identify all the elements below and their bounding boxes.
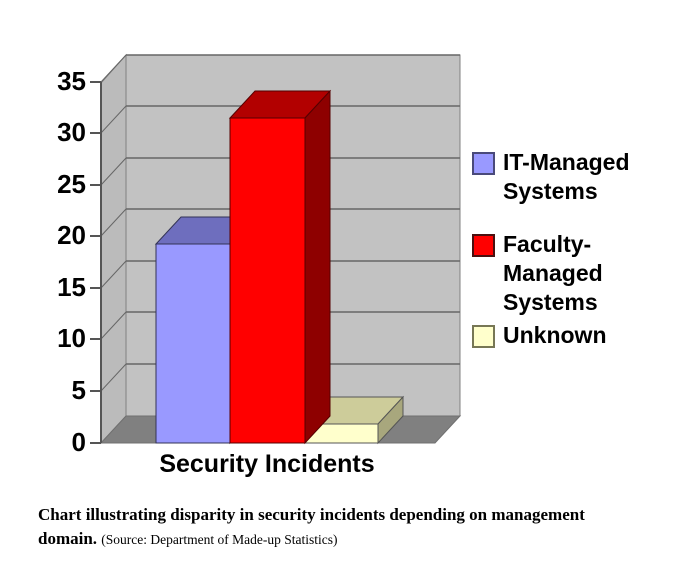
bar-it-managed-front (156, 244, 230, 443)
y-tick-label-5: 5 (72, 375, 86, 405)
legend-item-it-managed-systems[interactable]: IT-Managed Systems (473, 149, 630, 204)
legend-label-it-managed-systems-line2: Systems (503, 178, 598, 204)
plot-left-wall (101, 55, 126, 443)
caption-source-text: (Source: Department of Made-up Statistic… (101, 532, 337, 547)
y-tick-labels: 0 5 10 15 20 25 30 35 (57, 66, 86, 457)
bar-faculty-managed (230, 91, 330, 443)
bar-faculty-managed-front (230, 118, 305, 443)
y-tick-label-25: 25 (57, 169, 86, 199)
y-axis (90, 82, 101, 443)
y-tick-label-20: 20 (57, 220, 86, 250)
y-tick-label-0: 0 (72, 427, 86, 457)
y-tick-label-30: 30 (57, 117, 86, 147)
legend-item-faculty-managed-systems[interactable]: Faculty- Managed Systems (473, 231, 603, 315)
legend-swatch-unknown (473, 326, 494, 347)
x-axis-category-label: Security Incidents (159, 450, 374, 478)
legend-label-faculty-managed-systems-line3: Systems (503, 289, 598, 315)
bar-faculty-managed-side (305, 91, 330, 443)
legend-swatch-it-managed-systems (473, 153, 494, 174)
legend-label-faculty-managed-systems-line1: Faculty- (503, 231, 591, 257)
legend-label-it-managed-systems-line1: IT-Managed (503, 149, 630, 175)
legend-item-unknown[interactable]: Unknown (473, 322, 607, 348)
y-tick-label-10: 10 (57, 323, 86, 353)
bar-chart-svg: 0 5 10 15 20 25 30 35 (0, 0, 675, 581)
chart-caption: Chart illustrating disparity in security… (38, 503, 648, 551)
legend-swatch-faculty-managed-systems (473, 235, 494, 256)
chart-figure: 0 5 10 15 20 25 30 35 (0, 0, 675, 581)
y-tick-label-15: 15 (57, 272, 86, 302)
chart-legend: IT-Managed Systems Faculty- Managed Syst… (473, 149, 630, 348)
legend-label-faculty-managed-systems-line2: Managed (503, 260, 603, 286)
legend-label-unknown-line1: Unknown (503, 322, 607, 348)
y-tick-label-35: 35 (57, 66, 86, 96)
